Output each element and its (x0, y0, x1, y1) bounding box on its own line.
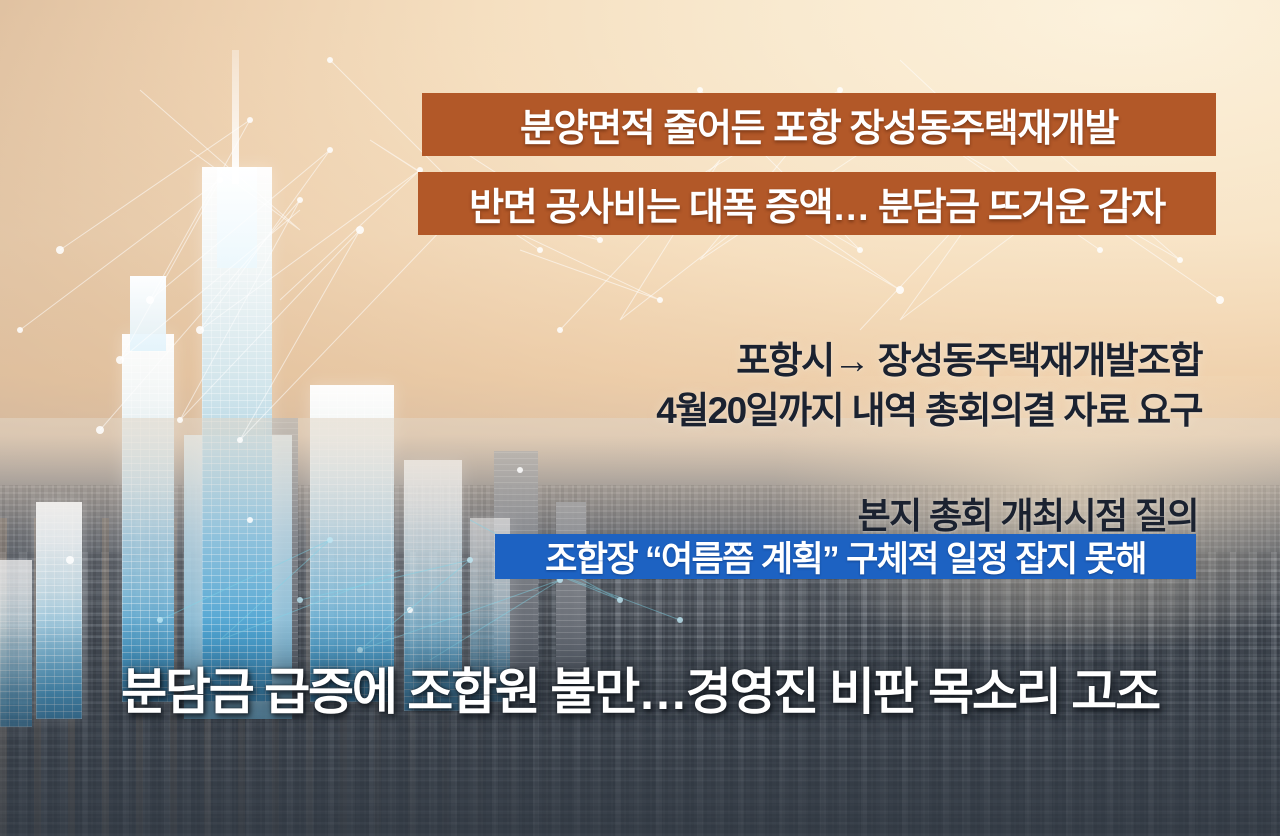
news-graphic-card: 분양면적 줄어든 포항 장성동주택재개발 반면 공사비는 대폭 증액… 분담금 … (0, 0, 1280, 836)
highlight-bar: 조합장 “여름쯤 계획” 구체적 일정 잡지 못해 (495, 534, 1196, 579)
headline-banner-1: 분양면적 줄어든 포항 장성동주택재개발 (422, 93, 1216, 156)
main-headline: 분담금 급증에 조합원 불만…경영진 비판 목소리 고조 (0, 652, 1280, 724)
headline-banner-2: 반면 공사비는 대폭 증액… 분담금 뜨거운 감자 (418, 172, 1216, 235)
text-overlay: 분양면적 줄어든 포항 장성동주택재개발 반면 공사비는 대폭 증액… 분담금 … (0, 0, 1280, 836)
body-line-1: 포항시→ 장성동주택재개발조합 (736, 330, 1202, 384)
body-line-2: 4월20일까지 내역 총회의결 자료 요구 (656, 380, 1202, 434)
